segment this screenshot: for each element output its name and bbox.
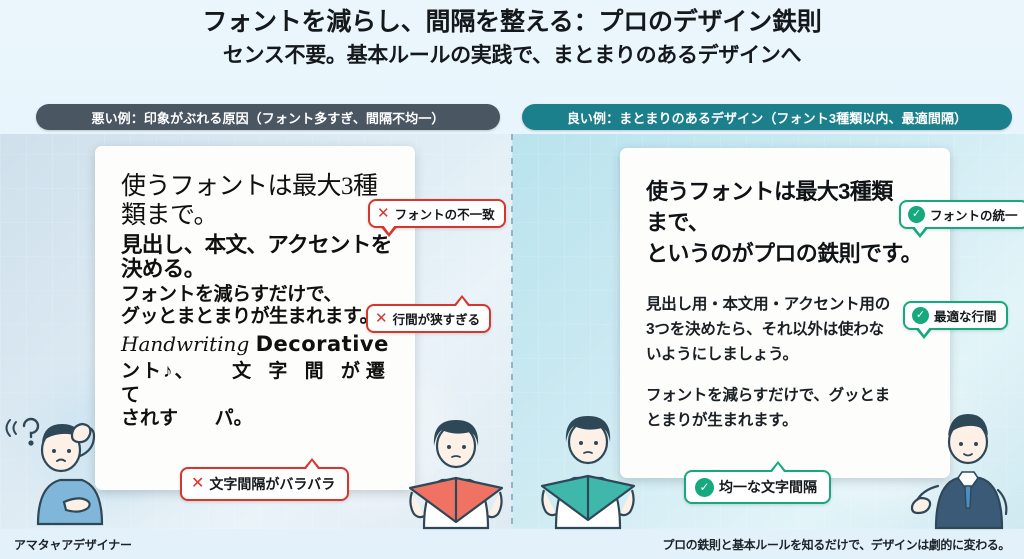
infographic-canvas: フォントを減らし、間隔を整える：プロのデザイン鉄則 センス不要。基本ルールの実践… <box>0 0 1024 559</box>
footer-left-text: アマタャアデザイナー <box>14 536 132 553</box>
spacer <box>646 270 930 292</box>
bad-line-fragment-4: パ。 <box>215 408 253 429</box>
bad-line-mixed-fonts: Handwriting Decorative <box>121 332 395 357</box>
bad-line-3: 見出し、本文、アクセントを <box>121 233 395 257</box>
callout-line-height-tight[interactable]: ✕ 行間が狭すぎる <box>366 304 491 333</box>
callout-label: 均一な文字間隔 <box>719 477 817 497</box>
callout-uniform-letter-spacing[interactable]: ✓ 均一な文字間隔 <box>684 470 831 504</box>
callout-font-unified[interactable]: ✓ フォントの統一 <box>899 200 1024 229</box>
good-body-2-line-2: とまりが生まれます。 <box>646 408 930 433</box>
callout-label: フォントの統一 <box>930 205 1018 224</box>
check-icon: ✓ <box>695 478 714 497</box>
good-heading-1: 使うフォントは最大3種類 <box>646 176 930 207</box>
callout-label: 最適な行間 <box>934 306 997 325</box>
bad-line-spacing-2: されす パ。 <box>121 407 395 431</box>
bad-line-handwriting: Handwriting <box>121 332 249 356</box>
illustration-confused-man <box>2 398 120 530</box>
bad-line-6: グッとまとまりが生まれます。 <box>121 306 395 328</box>
panel-divider <box>511 134 513 529</box>
bubble-tail <box>915 328 933 339</box>
check-icon: ✓ <box>908 206 925 223</box>
illustration-presenting-businessman <box>910 394 1024 530</box>
good-body-1-line-3: いようにしましょう。 <box>646 342 930 367</box>
bad-line-2: 類まで。 <box>121 201 395 230</box>
good-heading-2: まで、 <box>646 207 930 238</box>
ribbon-bad-example: 悪い例：印象がぶれる原因（フォント多すぎ、間隔不均一） <box>36 104 500 130</box>
good-body-1-line-1: 見出し用・本文用・アクセント用の <box>646 292 930 317</box>
callout-font-mismatch[interactable]: ✕ フォントの不一致 <box>368 199 506 228</box>
callout-optimal-line-height[interactable]: ✓ 最適な行間 <box>903 301 1008 330</box>
bubble-tail <box>303 458 321 469</box>
bad-line-1: 使うフォントは最大3種 <box>121 172 395 201</box>
bad-line-4: 決める。 <box>121 257 395 281</box>
title-main-text: フォントを減らし、間隔を整える：プロのデザイン鉄則 <box>0 6 1024 38</box>
callout-letter-spacing-uneven[interactable]: ✕ 文字間隔がバラバラ <box>180 467 349 501</box>
good-body-2-line-1: フォントを減らすだけで、グッとま <box>646 383 930 408</box>
good-body-1-line-2: 3つを決めたら、それ以外は使わな <box>646 317 930 342</box>
bad-line-decorative: Decorative <box>256 332 389 356</box>
check-icon: ✓ <box>912 307 929 324</box>
bubble-tail <box>453 295 471 306</box>
bubble-tail <box>769 461 787 472</box>
footer-right-text: プロの鉄則と基本ルールを知るだけで、デザインは劇的に変わる。 <box>662 536 1010 553</box>
x-icon: ✕ <box>375 311 388 326</box>
illustration-reading-woman-green-book <box>532 396 644 530</box>
spacer <box>646 367 930 383</box>
bubble-tail <box>380 226 398 237</box>
illustration-reading-woman-red-book <box>400 400 512 530</box>
bad-line-spacing-1: ント♪、 文 字 間 が遷て <box>121 360 395 408</box>
footer-left: アマタャアデザイナー <box>0 530 512 559</box>
page-title: フォントを減らし、間隔を整える：プロのデザイン鉄則 センス不要。基本ルールの実践… <box>0 6 1024 69</box>
bubble-tail <box>911 227 929 238</box>
x-icon: ✕ <box>377 206 390 221</box>
card-good-example: 使うフォントは最大3種類 まで、 というのがプロの鉄則です。 見出し用・本文用・… <box>620 148 950 478</box>
callout-label: 文字間隔がバラバラ <box>209 474 335 494</box>
good-heading-3: というのがプロの鉄則です。 <box>646 238 930 269</box>
title-sub-text: センス不要。基本ルールの実践で、まとまりのあるデザインへ <box>0 42 1024 69</box>
ribbon-good-example: 良い例：まとまりのあるデザイン（フォント3種類以内、最適間隔） <box>522 104 1012 130</box>
bad-line-5: フォントを減らすだけで、 <box>121 284 395 306</box>
callout-label: 行間が狭すぎる <box>393 309 481 328</box>
footer-right: プロの鉄則と基本ルールを知るだけで、デザインは劇的に変わる。 <box>512 530 1024 559</box>
callout-label: フォントの不一致 <box>395 204 495 223</box>
bad-line-fragment-1: ント♪、 <box>121 361 196 382</box>
x-icon: ✕ <box>191 476 204 492</box>
bad-line-fragment-3: されす <box>121 408 178 429</box>
